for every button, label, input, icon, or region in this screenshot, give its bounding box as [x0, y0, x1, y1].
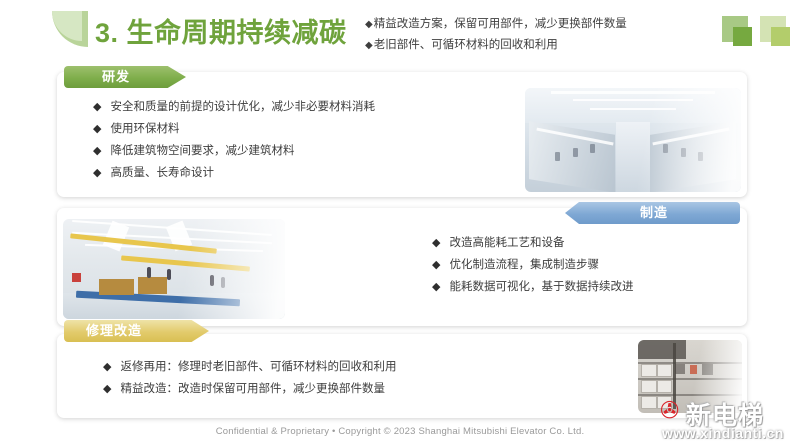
leaf-decoration-icon — [52, 11, 88, 47]
header-bullet-item: ◆老旧部件、可循环材料的回收和利用 — [365, 35, 695, 56]
list-item: ◆ 优化制造流程，集成制造步骤 — [432, 254, 633, 276]
diamond-bullet-icon: ◆ — [93, 96, 101, 118]
list-item: ◆ 降低建筑物空间要求，减少建筑材料 — [93, 140, 375, 162]
list-item: ◆ 能耗数据可视化，基于数据持续改进 — [432, 276, 633, 298]
list-item: ◆ 返修再用：修理时老旧部件、可循环材料的回收和利用 — [103, 356, 396, 378]
list-item-text: 使用环保材料 — [110, 118, 179, 140]
decor-square-inner — [733, 27, 752, 46]
watermark-logo-icon: ✇ — [660, 398, 679, 424]
diamond-bullet-icon: ◆ — [93, 162, 101, 184]
list-item-text: 改造高能耗工艺和设备 — [449, 232, 564, 254]
diamond-bullet-icon: ◆ — [93, 118, 101, 140]
section-banner-rp: 修理改造 — [64, 320, 209, 342]
section-banner-mf: 制造 — [565, 202, 740, 224]
header-bullet-text: 精益改造方案，保留可用部件，减少更换部件数量 — [374, 18, 627, 30]
bullet-list-rp: ◆ 返修再用：修理时老旧部件、可循环材料的回收和利用 ◆ 精益改造：改造时保留可… — [103, 356, 396, 400]
clean-room-laboratory-photo — [525, 88, 741, 192]
page-title: 3. 生命周期持续减碳 — [95, 11, 347, 50]
diamond-bullet-icon: ◆ — [365, 40, 373, 51]
section-banner-label: 修理改造 — [86, 320, 142, 342]
list-item-text: 安全和质量的前提的设计优化，减少非必要材料消耗 — [110, 96, 375, 118]
section-banner-rd: 研发 — [64, 66, 186, 88]
diamond-bullet-icon: ◆ — [103, 378, 111, 400]
diamond-bullet-icon: ◆ — [93, 140, 101, 162]
list-item-text: 降低建筑物空间要求，减少建筑材料 — [110, 140, 294, 162]
bullet-list-rd: ◆ 安全和质量的前提的设计优化，减少非必要材料消耗 ◆ 使用环保材料 ◆ 降低建… — [93, 96, 375, 184]
section-banner-label: 制造 — [640, 202, 668, 224]
diamond-bullet-icon: ◆ — [432, 254, 440, 276]
list-item-text: 能耗数据可视化，基于数据持续改进 — [449, 276, 633, 298]
list-item-text: 精益改造：改造时保留可用部件，减少更换部件数量 — [120, 378, 385, 400]
diamond-bullet-icon: ◆ — [432, 276, 440, 298]
factory-assembly-line-photo — [63, 219, 285, 319]
diamond-bullet-icon: ◆ — [432, 232, 440, 254]
diamond-bullet-icon: ◆ — [365, 19, 373, 30]
watermark-url: www.xindianti.cn — [662, 425, 784, 441]
list-item: ◆ 改造高能耗工艺和设备 — [432, 232, 633, 254]
header-bullet-list: ◆精益改造方案，保留可用部件，减少更换部件数量 ◆老旧部件、可循环材料的回收和利… — [365, 14, 695, 56]
list-item: ◆ 安全和质量的前提的设计优化，减少非必要材料消耗 — [93, 96, 375, 118]
list-item: ◆ 精益改造：改造时保留可用部件，减少更换部件数量 — [103, 378, 396, 400]
list-item-text: 高质量、长寿命设计 — [110, 162, 214, 184]
decor-square-inner — [771, 27, 790, 46]
section-banner-label: 研发 — [102, 66, 130, 88]
header-bullet-text: 老旧部件、可循环材料的回收和利用 — [374, 39, 558, 51]
list-item: ◆ 高质量、长寿命设计 — [93, 162, 375, 184]
list-item: ◆ 使用环保材料 — [93, 118, 375, 140]
bullet-list-mf: ◆ 改造高能耗工艺和设备 ◆ 优化制造流程，集成制造步骤 ◆ 能耗数据可视化，基… — [432, 232, 633, 298]
list-item-text: 返修再用：修理时老旧部件、可循环材料的回收和利用 — [120, 356, 396, 378]
list-item-text: 优化制造流程，集成制造步骤 — [449, 254, 599, 276]
watermark: ✇ 新电梯 www.xindianti.cn — [660, 396, 800, 444]
diamond-bullet-icon: ◆ — [103, 356, 111, 378]
slide-canvas: 3. 生命周期持续减碳 ◆精益改造方案，保留可用部件，减少更换部件数量 ◆老旧部… — [0, 0, 800, 448]
header-bullet-item: ◆精益改造方案，保留可用部件，减少更换部件数量 — [365, 14, 695, 35]
